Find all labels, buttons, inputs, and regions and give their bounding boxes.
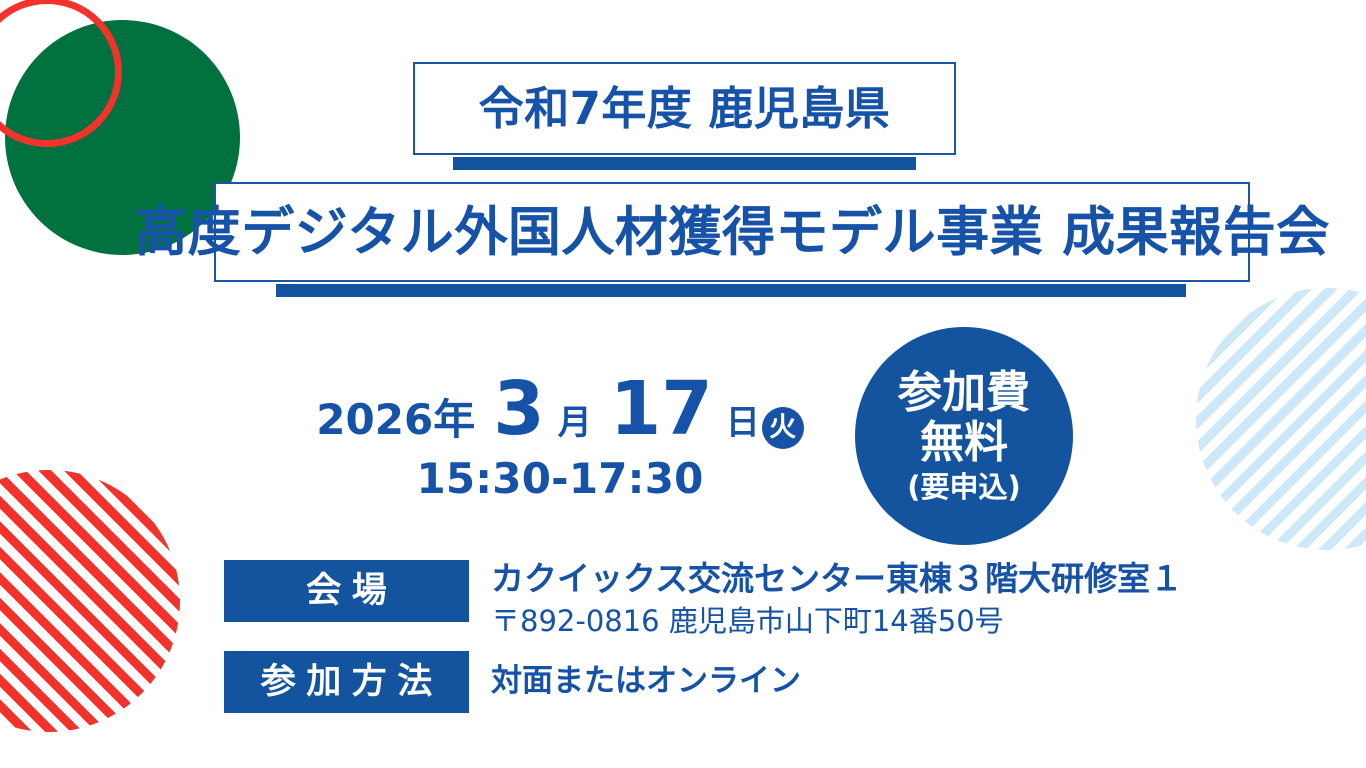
title-line2-shadow-bar xyxy=(276,284,1186,297)
participation-fee-badge: 参加費 無料 (要申込) xyxy=(855,327,1073,545)
date-year: 2026年 xyxy=(316,399,475,441)
event-poster: 令和7年度 鹿児島県 高度デジタル外国人材獲得モデル事業 成果報告会 2026年… xyxy=(0,0,1366,768)
weekday-badge: 火 xyxy=(762,407,804,449)
title-line1-shadow-bar xyxy=(453,157,916,170)
venue-tag: 会場 xyxy=(224,560,469,622)
date-month-unit: 月 xyxy=(558,406,592,440)
venue-address: 〒892-0816 鹿児島市山下町14番50号 xyxy=(491,604,1183,639)
red-ring-decoration xyxy=(0,0,122,147)
event-info-block: 会場 カクイックス交流センター東棟３階大研修室１ 〒892-0816 鹿児島市山… xyxy=(224,560,1183,713)
venue-row: 会場 カクイックス交流センター東棟３階大研修室１ 〒892-0816 鹿児島市山… xyxy=(224,560,1183,639)
fee-badge-label: 参加費 xyxy=(898,370,1030,416)
event-date-block: 2026年 3 月 17 日 火 15:30-17:30 xyxy=(300,372,820,500)
date-month-number: 3 xyxy=(493,372,545,446)
event-date-line: 2026年 3 月 17 日 火 xyxy=(300,372,820,447)
venue-name: カクイックス交流センター東棟３階大研修室１ xyxy=(491,561,1183,598)
event-time: 15:30-17:30 xyxy=(300,458,820,500)
participation-method-row: 参加方法 対面またはオンライン xyxy=(224,651,1183,713)
venue-details: カクイックス交流センター東棟３階大研修室１ 〒892-0816 鹿児島市山下町1… xyxy=(469,560,1183,639)
red-striped-circle-decoration xyxy=(0,470,180,732)
title-line1-block: 令和7年度 鹿児島県 xyxy=(413,62,956,155)
title-line1-box: 令和7年度 鹿児島県 xyxy=(413,62,956,155)
title-line1-text: 令和7年度 鹿児島県 xyxy=(479,86,890,131)
title-line2-block: 高度デジタル外国人材獲得モデル事業 成果報告会 xyxy=(214,182,1250,282)
title-line2-text: 高度デジタル外国人材獲得モデル事業 成果報告会 xyxy=(134,206,1330,259)
blue-striped-circle-decoration xyxy=(1196,288,1366,550)
date-day-number: 17 xyxy=(610,372,713,446)
participation-method-value: 対面またはオンライン xyxy=(491,652,801,697)
fee-badge-note: (要申込) xyxy=(907,472,1021,502)
title-line2-box: 高度デジタル外国人材獲得モデル事業 成果報告会 xyxy=(214,182,1250,282)
participation-method-tag: 参加方法 xyxy=(224,651,469,713)
fee-badge-value: 無料 xyxy=(920,420,1008,466)
participation-method-details: 対面またはオンライン xyxy=(469,651,801,697)
date-day-unit: 日 xyxy=(726,406,760,440)
